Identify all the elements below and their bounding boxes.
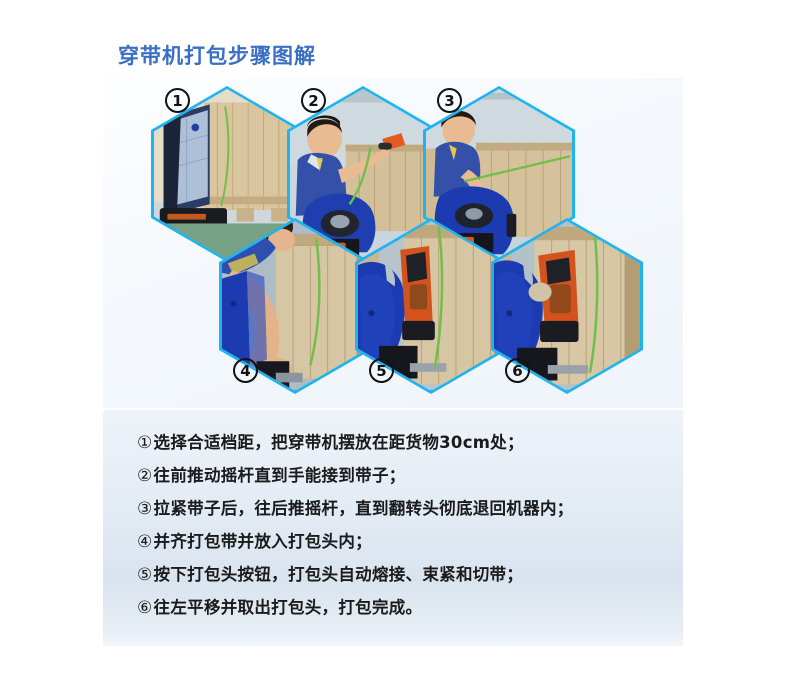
step-badge-2: 2 (301, 88, 326, 113)
step-number-4: ④ (137, 526, 153, 559)
step-number-5: ⑤ (137, 559, 153, 592)
steps-list: ① 选择合适档距，把穿带机摆放在距货物30cm处； ② 往前推动摇杆直到手能接到… (103, 410, 683, 624)
hexagon-grid: 1 2 3 4 5 6 (103, 78, 683, 408)
step-list-item-6: ⑥ 往左平移并取出打包头，打包完成。 (103, 591, 683, 624)
step-number-6: ⑥ (137, 592, 153, 625)
step-text-1: 选择合适档距，把穿带机摆放在距货物30cm处； (154, 426, 524, 459)
step-text-5: 按下打包头按钮，打包头自动熔接、束紧和切带； (154, 558, 524, 591)
step-list-item-1: ① 选择合适档距，把穿带机摆放在距货物30cm处； (103, 426, 683, 459)
step-text-2: 往前推动摇杆直到手能接到带子； (154, 459, 406, 492)
step-text-4: 并齐打包带并放入打包头内； (154, 525, 372, 558)
step-badge-3: 3 (437, 88, 462, 113)
step-badge-6: 6 (505, 358, 530, 383)
step-list-item-3: ③ 拉紧带子后，往后推摇杆，直到翻转头彻底退回机器内； (103, 492, 683, 525)
step-list-item-2: ② 往前推动摇杆直到手能接到带子； (103, 459, 683, 492)
step-text-6: 往左平移并取出打包头，打包完成。 (154, 591, 423, 624)
step-badge-1: 1 (165, 88, 190, 113)
step-text-3: 拉紧带子后，往后推摇杆，直到翻转头彻底退回机器内； (154, 492, 574, 525)
step-number-1: ① (137, 427, 153, 460)
step-badge-5: 5 (369, 358, 394, 383)
step-list-item-5: ⑤ 按下打包头按钮，打包头自动熔接、束紧和切带； (103, 558, 683, 591)
step-list-item-4: ④ 并齐打包带并放入打包头内； (103, 525, 683, 558)
hexagon-photo-collage: 1 2 3 4 5 6 (103, 78, 683, 408)
step-number-3: ③ (137, 493, 153, 526)
step-number-2: ② (137, 460, 153, 493)
page-title: 穿带机打包步骤图解 (118, 40, 316, 70)
steps-instructions-panel: ① 选择合适档距，把穿带机摆放在距货物30cm处； ② 往前推动摇杆直到手能接到… (103, 410, 683, 646)
step-badge-4: 4 (233, 358, 258, 383)
